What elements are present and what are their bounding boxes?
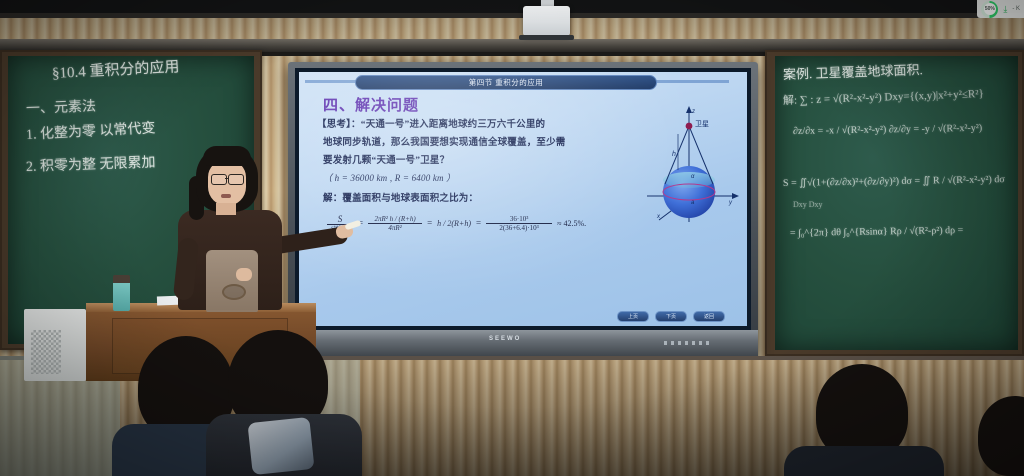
title-rule-right [653, 80, 729, 83]
student-jacket-highlight [247, 417, 314, 475]
next-page-button[interactable]: 下页 [655, 311, 687, 322]
formula-step1-denominator: 4πR² [388, 224, 401, 232]
ceiling-band [0, 0, 1024, 13]
next-page-label: 下页 [666, 313, 676, 320]
teacher-belt-buckle [222, 284, 246, 300]
display-indicator-dots [664, 341, 710, 345]
classroom-screenshot: §10.4 重积分的应用 一、元素法 1. 化整为零 以常代变 2. 积零为整 … [0, 0, 1024, 476]
formula-step3-numerator: 36·10³ [510, 215, 528, 223]
svg-text:z: z [691, 109, 695, 115]
formula-step2: h / 2(R+h) [437, 219, 471, 228]
formula-step3-denominator: 2(36+6.4)·10³ [499, 224, 538, 232]
svg-text:y: y [728, 200, 733, 206]
student-shoulders [784, 446, 944, 476]
formula-step1-numerator: 2πR² h / (R+h) [374, 215, 415, 223]
teacher-left-hand [236, 268, 252, 281]
teacher-hair-fringe [203, 146, 251, 166]
teacher-glasses-bridge [225, 178, 229, 179]
slide-body-line-0: 【思考】：“天通一号”进入距离地球约三万六千公里的 [317, 116, 545, 130]
teacher-neck [216, 203, 236, 215]
ceiling-ptz-camera [523, 6, 570, 36]
slide-body-line-4: 解：覆盖面积与地球表面积之比为： [323, 190, 478, 204]
svg-text:h: h [672, 151, 676, 158]
prev-page-label: 上页 [628, 313, 638, 320]
formula-result: ≈ 42.5%. [557, 219, 586, 228]
progress-ring-inner: 50% [984, 3, 996, 15]
download-icon[interactable]: ⤓ [1003, 5, 1007, 14]
presentation-slide[interactable]: 第四节 重积分的应用 四、解决问题 【思考】：“天通一号”进入距离地球约三万六千… [299, 72, 747, 326]
slide-heading: 四、解决问题 [323, 94, 419, 115]
teal-thermos [113, 281, 130, 311]
progress-ring: 50% [981, 1, 998, 18]
recorder-overlay[interactable]: 50% ⤓ - K [977, 0, 1024, 18]
earth-satellite-diagram: 卫星 z y x h α a [643, 104, 741, 226]
slide-body-line-3: （ h = 36000 km , R = 6400 km ） [323, 171, 455, 184]
chalk-line-right-4: Dxy Dxy [793, 200, 823, 209]
slide-formula: S S地球面 = 2πR² h / (R+h) 4πR² = h / 2(R+h… [327, 214, 586, 232]
camera-base [519, 35, 574, 40]
slide-body-line-1: 地球同步轨道，那么我国要想实现通信全球覆盖，至少需 [323, 134, 566, 148]
teacher-mouth [221, 194, 231, 198]
progress-label: 50% [985, 6, 995, 12]
slide-body-line-2: 要发射几颗“天通一号”卫星？ [323, 152, 449, 166]
thermos-cap [113, 275, 130, 283]
prev-page-button[interactable]: 上页 [617, 311, 649, 322]
slide-title-banner: 第四节 重积分的应用 [355, 75, 657, 90]
return-button[interactable]: 返回 [693, 311, 725, 322]
teacher-glasses-left-lens [211, 174, 227, 185]
teacher-glasses-right-lens [228, 174, 244, 185]
ceiling-band-secondary [0, 13, 1024, 18]
speaker-grille [31, 330, 61, 374]
display-brand-logo: SEEWO [489, 336, 521, 342]
chalk-line-left-1: 一、元素法 [26, 96, 97, 118]
svg-text:卫星: 卫星 [695, 120, 709, 128]
title-rule-left [305, 80, 357, 83]
svg-text:α: α [691, 174, 695, 180]
formula-lhs-numerator: S [338, 214, 343, 224]
shortcut-label: - K [1012, 6, 1020, 12]
teacher-apron [206, 250, 258, 312]
slide-title-text: 第四节 重积分的应用 [469, 77, 544, 88]
return-label: 返回 [704, 313, 714, 320]
